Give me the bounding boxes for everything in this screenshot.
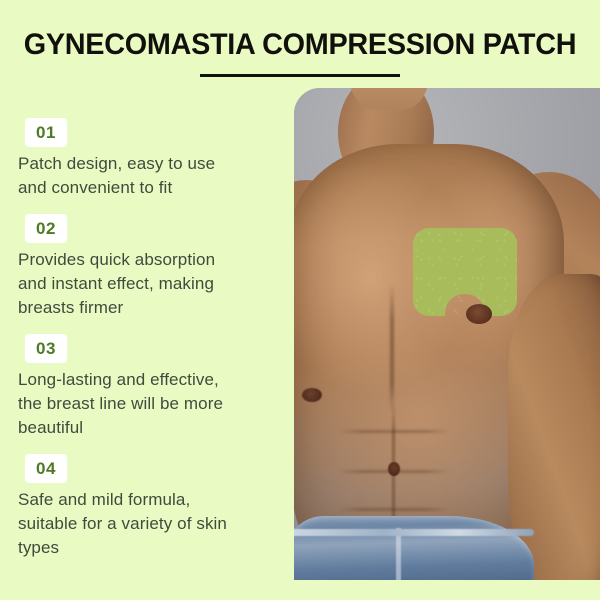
feature-number-badge-03: 03 bbox=[25, 334, 67, 363]
feature-number-badge-02: 02 bbox=[25, 214, 67, 243]
model-navel bbox=[388, 462, 400, 476]
model-sternum-line bbox=[390, 284, 394, 412]
jeans-waistband bbox=[294, 529, 534, 536]
feature-item-04: 04 Safe and mild formula, suitable for a… bbox=[18, 454, 284, 560]
feature-text-03: Long-lasting and effective, the breast l… bbox=[18, 368, 284, 440]
feature-list: 01 Patch design, easy to use and conveni… bbox=[18, 118, 284, 560]
feature-text-04: Safe and mild formula, suitable for a va… bbox=[18, 488, 284, 560]
page-title: GYNECOMASTIA COMPRESSION PATCH bbox=[12, 28, 588, 62]
model-nipple-right bbox=[466, 304, 492, 324]
model-jeans bbox=[294, 516, 534, 580]
feature-item-03: 03 Long-lasting and effective, the breas… bbox=[18, 334, 284, 440]
product-photo bbox=[294, 88, 600, 580]
feature-text-02: Provides quick absorption and instant ef… bbox=[18, 248, 284, 320]
feature-item-01: 01 Patch design, easy to use and conveni… bbox=[18, 118, 284, 200]
compression-patch bbox=[413, 228, 517, 316]
feature-item-02: 02 Provides quick absorption and instant… bbox=[18, 214, 284, 320]
product-infographic: GYNECOMASTIA COMPRESSION PATCH 01 Patch … bbox=[0, 0, 600, 600]
title-underline bbox=[200, 74, 400, 77]
feature-number-badge-01: 01 bbox=[25, 118, 67, 147]
model-ab-crease-3 bbox=[338, 508, 450, 511]
model-nipple-left bbox=[302, 388, 322, 402]
model-ab-crease-1 bbox=[338, 430, 450, 433]
feature-number-badge-04: 04 bbox=[25, 454, 67, 483]
feature-text-01: Patch design, easy to use and convenient… bbox=[18, 152, 284, 200]
